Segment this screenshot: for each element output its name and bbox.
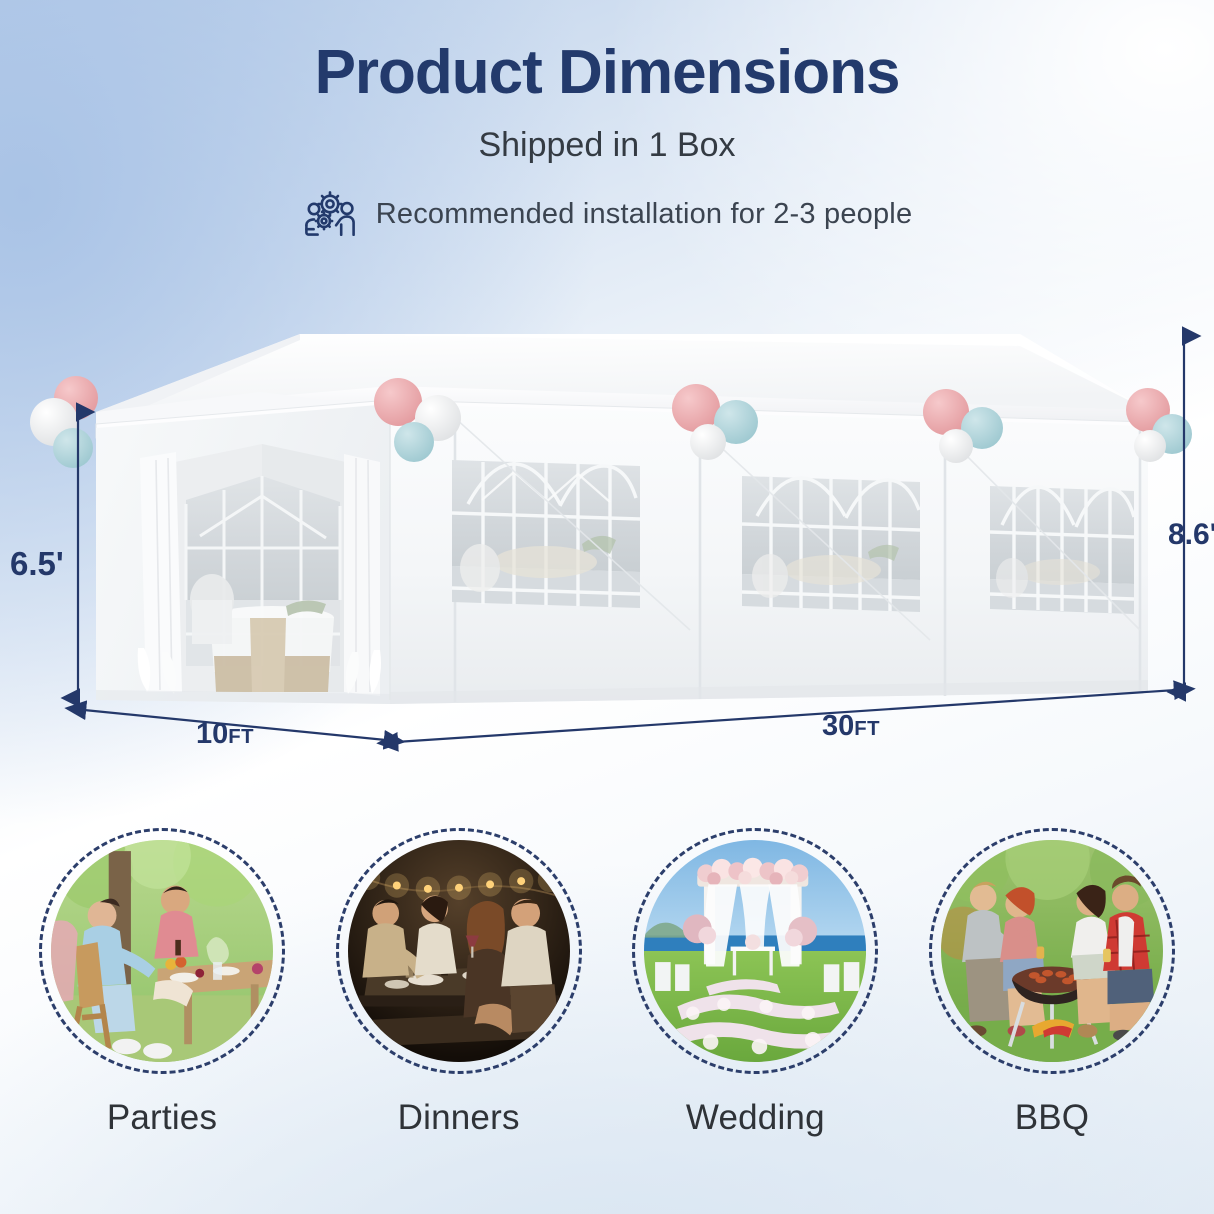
backyard-grill-friends-photo <box>941 840 1163 1062</box>
dimension-length-value: 30 <box>822 710 854 742</box>
use-case-label: Dinners <box>398 1098 520 1138</box>
header-block: Product Dimensions Shipped in 1 Box <box>0 40 1214 240</box>
shipping-subtitle: Shipped in 1 Box <box>0 127 1214 164</box>
use-case-ring <box>929 828 1175 1074</box>
use-case-label: BBQ <box>1015 1098 1090 1138</box>
infographic-canvas: Product Dimensions Shipped in 1 Box <box>0 0 1214 1214</box>
use-case-ring <box>632 828 878 1074</box>
use-case-ring <box>336 828 582 1074</box>
dimension-height-peak: 8.6' <box>1168 518 1214 552</box>
use-case-bbq: BBQ <box>918 828 1186 1208</box>
use-case-wedding: Wedding <box>621 828 889 1208</box>
night-string-lights-dinner-photo <box>348 840 570 1062</box>
use-case-ring <box>39 828 285 1074</box>
use-case-parties: Parties <box>28 828 296 1208</box>
use-cases-row: Parties <box>0 828 1214 1208</box>
dimension-length-unit: FT <box>854 718 880 740</box>
seaside-floral-wedding-arch-photo <box>644 840 866 1062</box>
use-case-label: Parties <box>107 1098 217 1138</box>
outdoor-daytime-table-friends-photo <box>51 840 273 1062</box>
people-gears-installation-icon <box>302 188 358 240</box>
page-title: Product Dimensions <box>0 40 1214 105</box>
dimension-width-value: 10 <box>196 718 228 750</box>
dimension-length: 30FT <box>822 710 880 743</box>
dimension-width: 10FT <box>196 718 254 751</box>
dimension-height-front: 6.5' <box>10 545 64 583</box>
use-case-label: Wedding <box>686 1098 825 1138</box>
product-illustration <box>0 300 1214 800</box>
use-case-dinners: Dinners <box>325 828 593 1208</box>
recommendation-row: Recommended installation for 2-3 people <box>0 188 1214 240</box>
recommendation-label: Recommended installation for 2-3 people <box>376 198 913 231</box>
dimension-width-unit: FT <box>228 726 254 748</box>
